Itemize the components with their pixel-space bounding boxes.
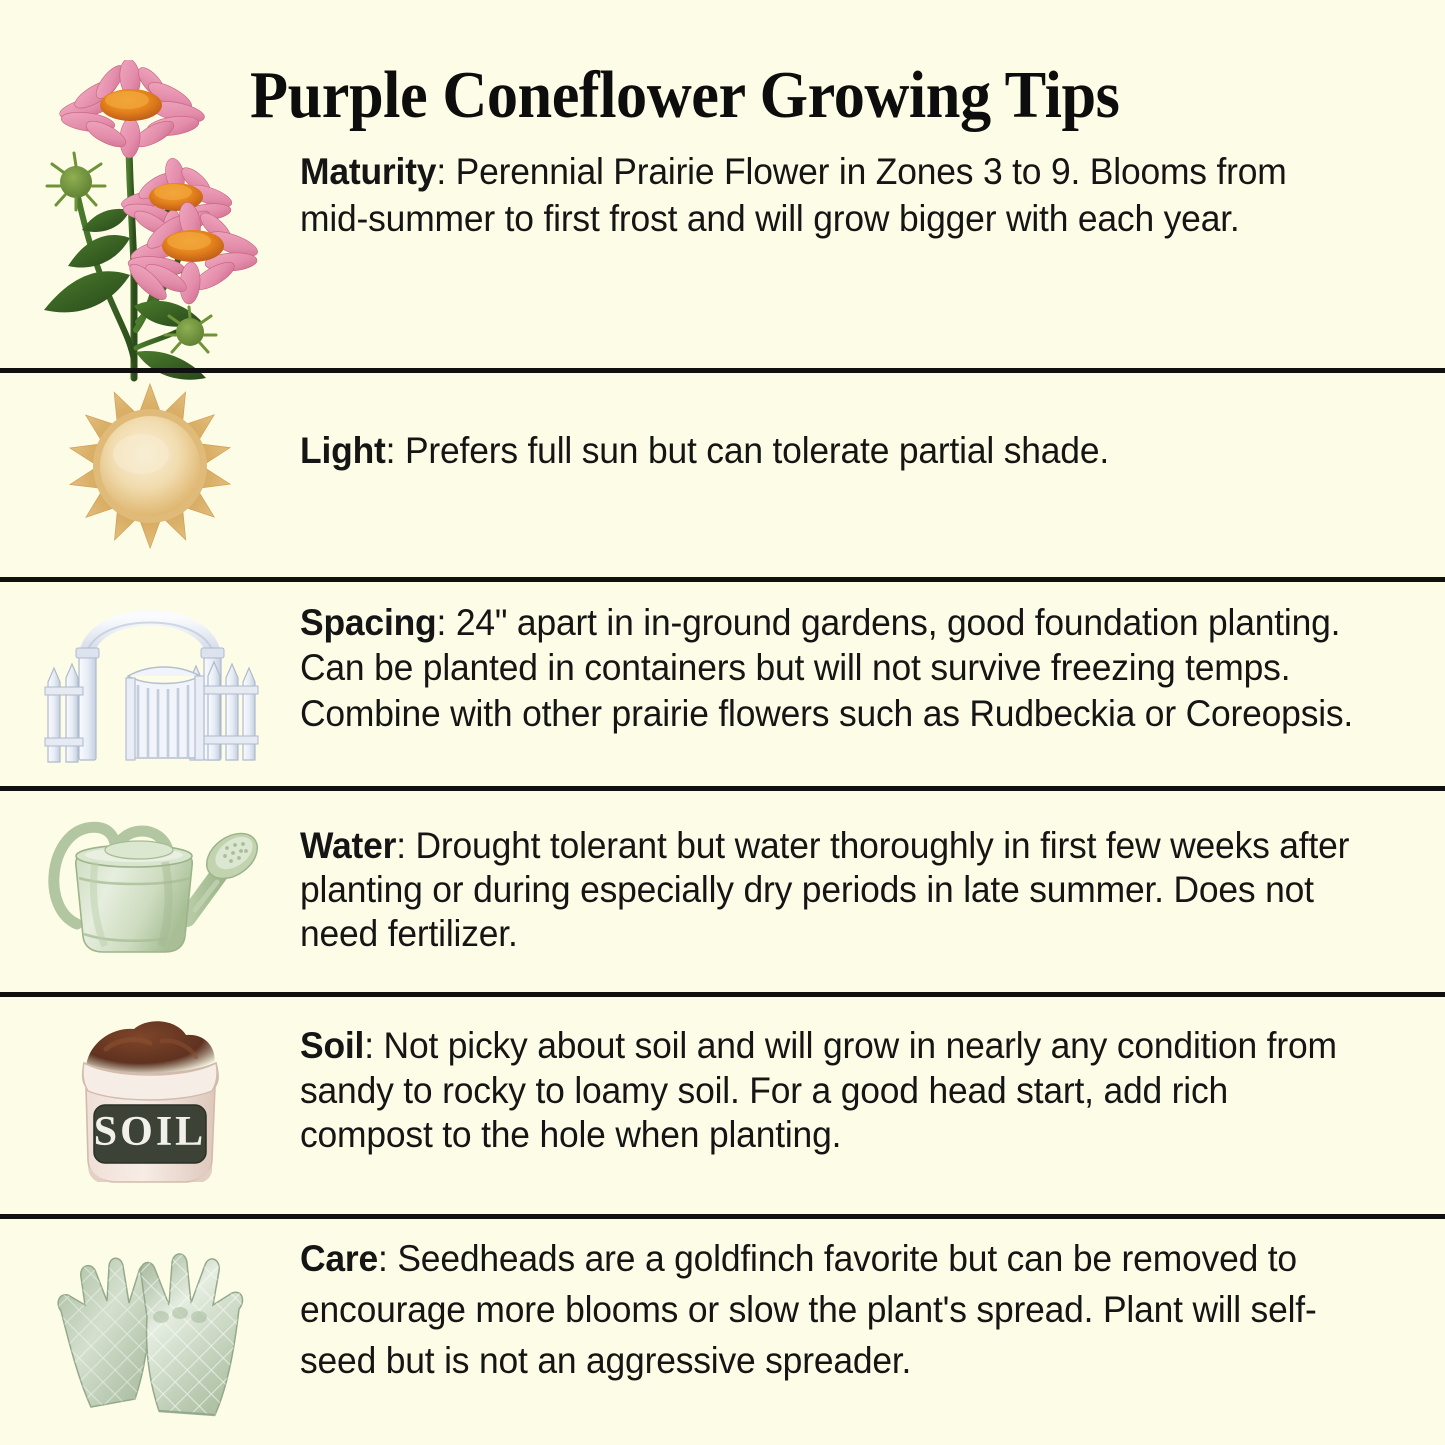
section-separator-care: : [378, 1237, 388, 1279]
text-cell-water: Water: Drought tolerant but water thorou… [300, 800, 1445, 956]
infographic-root: Purple Coneflower Growing Tips [0, 0, 1445, 1445]
icon-cell-maturity [0, 60, 300, 390]
section-separator-light: : [386, 429, 396, 471]
section-separator-water: : [396, 824, 406, 866]
section-label-water: Water [300, 824, 396, 866]
icon-cell-light [0, 380, 300, 555]
coneflower-bloom-top [58, 60, 207, 158]
garden-gloves-icon [43, 1225, 258, 1425]
section-label-soil: Soil [300, 1024, 364, 1066]
section-body-soil: Not picky about soil and will grow in ne… [300, 1024, 1337, 1155]
section-separator-spacing: : [437, 601, 447, 643]
section-separator-maturity: : [436, 150, 446, 192]
icon-cell-soil: SOIL [0, 1005, 300, 1190]
section-label-light: Light [300, 429, 386, 471]
section-separator-soil: : [364, 1024, 374, 1066]
divider-2 [0, 577, 1445, 582]
watering-can-icon [35, 800, 265, 965]
glove-left [58, 1258, 152, 1407]
icon-cell-care [0, 1225, 300, 1425]
soil-bag-icon: SOIL [58, 1005, 243, 1190]
sun-icon [55, 380, 245, 555]
section-spacing: Spacing: 24" apart in in-ground gardens,… [0, 590, 1445, 780]
text-cell-maturity: Maturity: Perennial Prairie Flower in Zo… [300, 60, 1445, 243]
soil-bag-label: SOIL [93, 1109, 205, 1155]
section-text-light: Light: Prefers full sun but can tolerate… [300, 428, 1354, 473]
bud-upper-left [47, 153, 105, 210]
section-label-care: Care [300, 1237, 378, 1279]
icon-cell-spacing [0, 590, 300, 770]
divider-1 [0, 368, 1445, 373]
section-label-maturity: Maturity [300, 150, 436, 192]
divider-5 [0, 1214, 1445, 1219]
coneflower-plant-icon [30, 60, 270, 390]
text-cell-light: Light: Prefers full sun but can tolerate… [300, 380, 1445, 473]
section-text-maturity: Maturity: Perennial Prairie Flower in Zo… [300, 148, 1354, 243]
icon-cell-water [0, 800, 300, 965]
garden-gate-fence-icon [40, 590, 260, 770]
glove-right [140, 1254, 242, 1415]
section-water: Water: Drought tolerant but water thorou… [0, 800, 1445, 985]
section-body-water: Drought tolerant but water thoroughly in… [300, 824, 1349, 954]
text-cell-spacing: Spacing: 24" apart in in-ground gardens,… [300, 590, 1445, 736]
section-text-water: Water: Drought tolerant but water thorou… [300, 824, 1354, 956]
section-text-care: Care: Seedheads are a goldfinch favorite… [300, 1233, 1354, 1386]
section-care: Care: Seedheads are a goldfinch favorite… [0, 1225, 1445, 1430]
section-maturity: Maturity: Perennial Prairie Flower in Zo… [0, 60, 1445, 360]
section-body-maturity: Perennial Prairie Flower in Zones 3 to 9… [300, 150, 1287, 239]
section-soil: SOIL Soil: Not picky about soil and will… [0, 1005, 1445, 1205]
section-text-spacing: Spacing: 24" apart in in-ground gardens,… [300, 600, 1354, 736]
text-cell-care: Care: Seedheads are a goldfinch favorite… [300, 1225, 1445, 1386]
text-cell-soil: Soil: Not picky about soil and will grow… [300, 1005, 1445, 1157]
section-light: Light: Prefers full sun but can tolerate… [0, 380, 1445, 570]
section-label-spacing: Spacing [300, 601, 437, 643]
divider-4 [0, 992, 1445, 997]
section-body-spacing: 24" apart in in-ground gardens, good fou… [300, 601, 1353, 734]
section-text-soil: Soil: Not picky about soil and will grow… [300, 1023, 1354, 1157]
divider-3 [0, 786, 1445, 791]
section-body-light: Prefers full sun but can tolerate partia… [395, 429, 1109, 471]
section-body-care: Seedheads are a goldfinch favorite but c… [300, 1237, 1317, 1381]
